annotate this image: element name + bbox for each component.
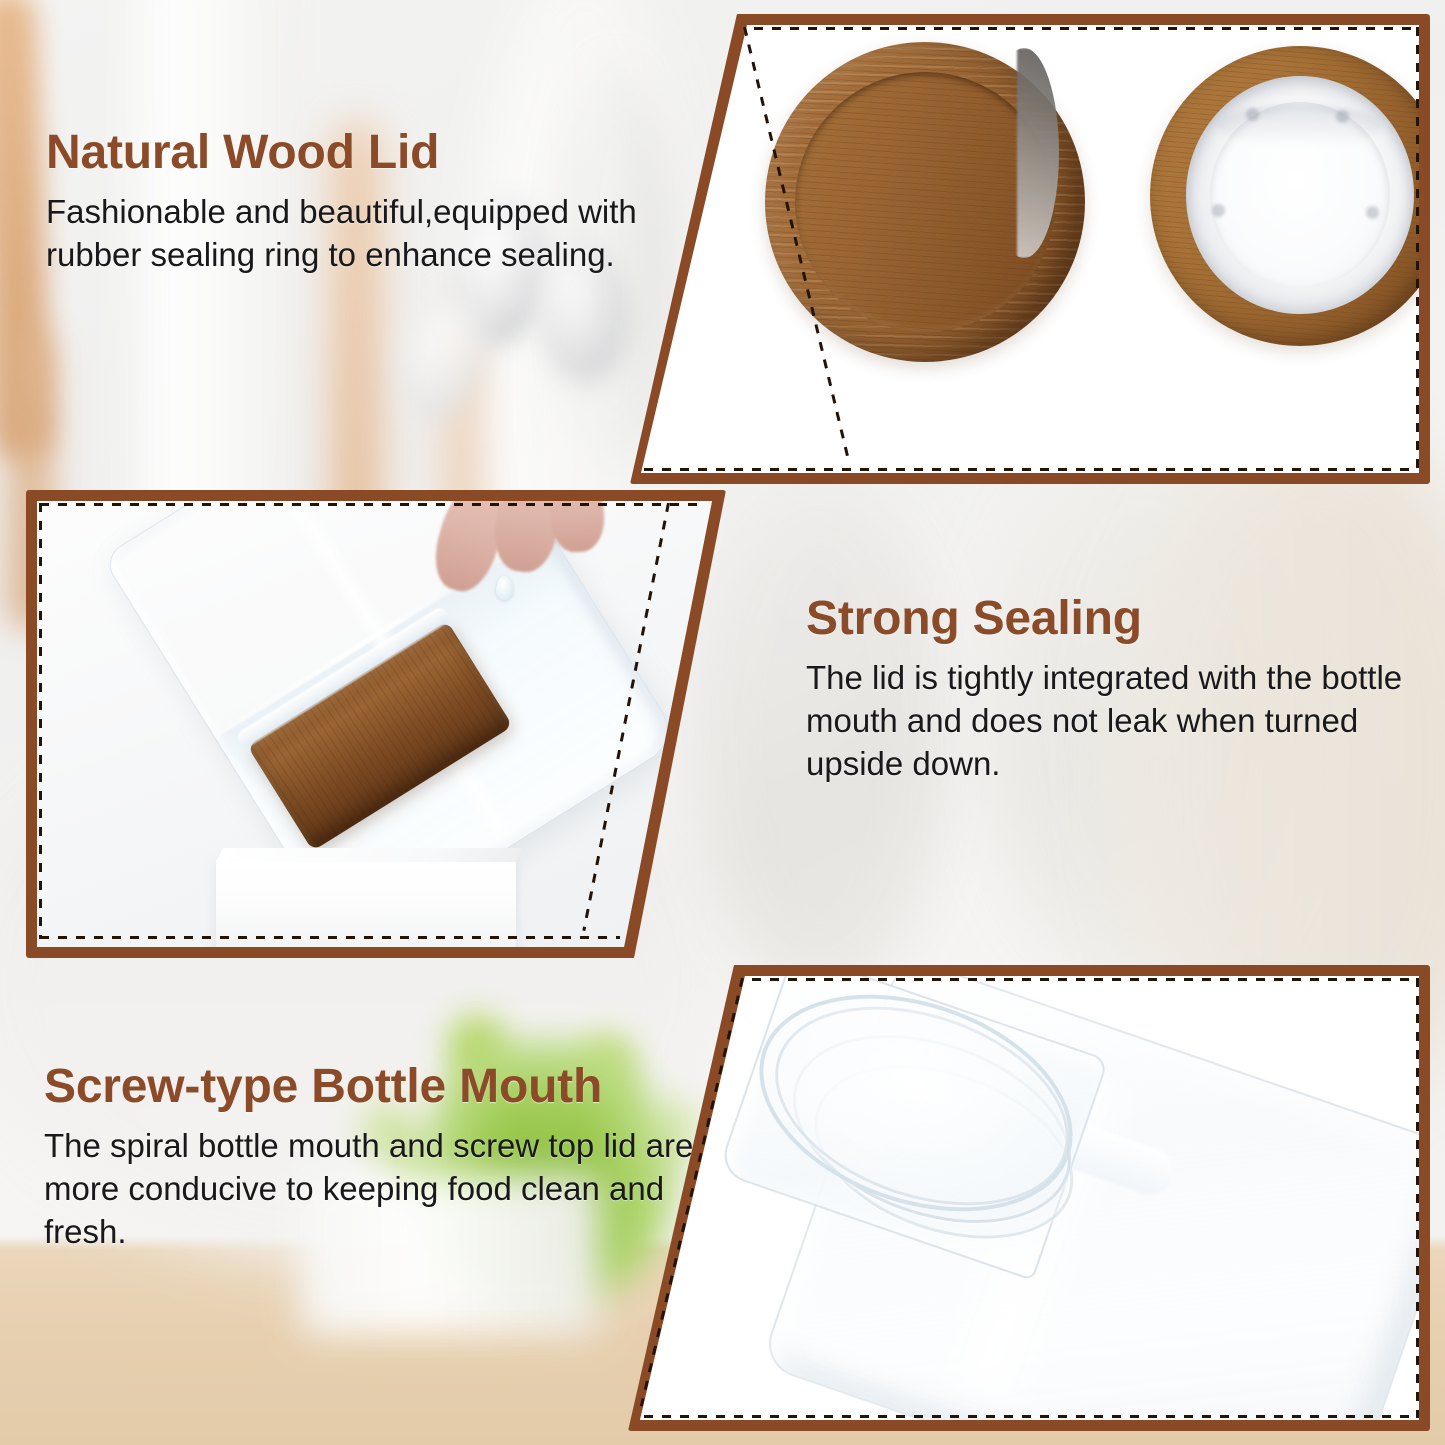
photo-panel-strong-sealing <box>26 490 726 958</box>
feature-heading: Strong Sealing <box>806 594 1426 645</box>
wood-lid-top-view <box>765 42 1085 362</box>
photo-panel-natural-wood-lid <box>630 14 1430 484</box>
water-drop-icon <box>496 576 513 600</box>
wood-lid-photo <box>630 14 1430 484</box>
feature-text-screw-type-bottle-mouth: Screw-type Bottle Mouth The spiral bottl… <box>44 1062 694 1254</box>
photo-panel-inner <box>630 14 1430 484</box>
photo-panel-inner <box>628 965 1430 1431</box>
seal-notch <box>1246 108 1259 121</box>
seal-notch <box>1212 204 1225 217</box>
jar-mouth-photo <box>628 965 1430 1431</box>
feature-heading: Screw-type Bottle Mouth <box>44 1062 694 1113</box>
feature-description: The lid is tightly integrated with the b… <box>806 657 1426 786</box>
feature-description: Fashionable and beautiful,equipped with … <box>46 191 676 277</box>
tilted-bottle-photo <box>26 490 726 958</box>
feature-text-strong-sealing: Strong Sealing The lid is tightly integr… <box>806 594 1426 786</box>
product-feature-infographic: Natural Wood Lid Fashionable and beautif… <box>0 0 1445 1445</box>
feature-heading: Natural Wood Lid <box>46 128 676 179</box>
photo-panel-screw-type-bottle-mouth <box>628 965 1430 1431</box>
feature-description: The spiral bottle mouth and screw top li… <box>44 1125 694 1254</box>
wood-lid-underside-view <box>1150 46 1430 346</box>
white-display-block <box>216 860 516 950</box>
rubber-sealing-ring <box>1186 76 1414 314</box>
feature-text-natural-wood-lid: Natural Wood Lid Fashionable and beautif… <box>46 128 676 277</box>
seal-notch <box>1366 206 1379 219</box>
photo-panel-inner <box>26 490 726 958</box>
seal-notch <box>1336 110 1349 123</box>
